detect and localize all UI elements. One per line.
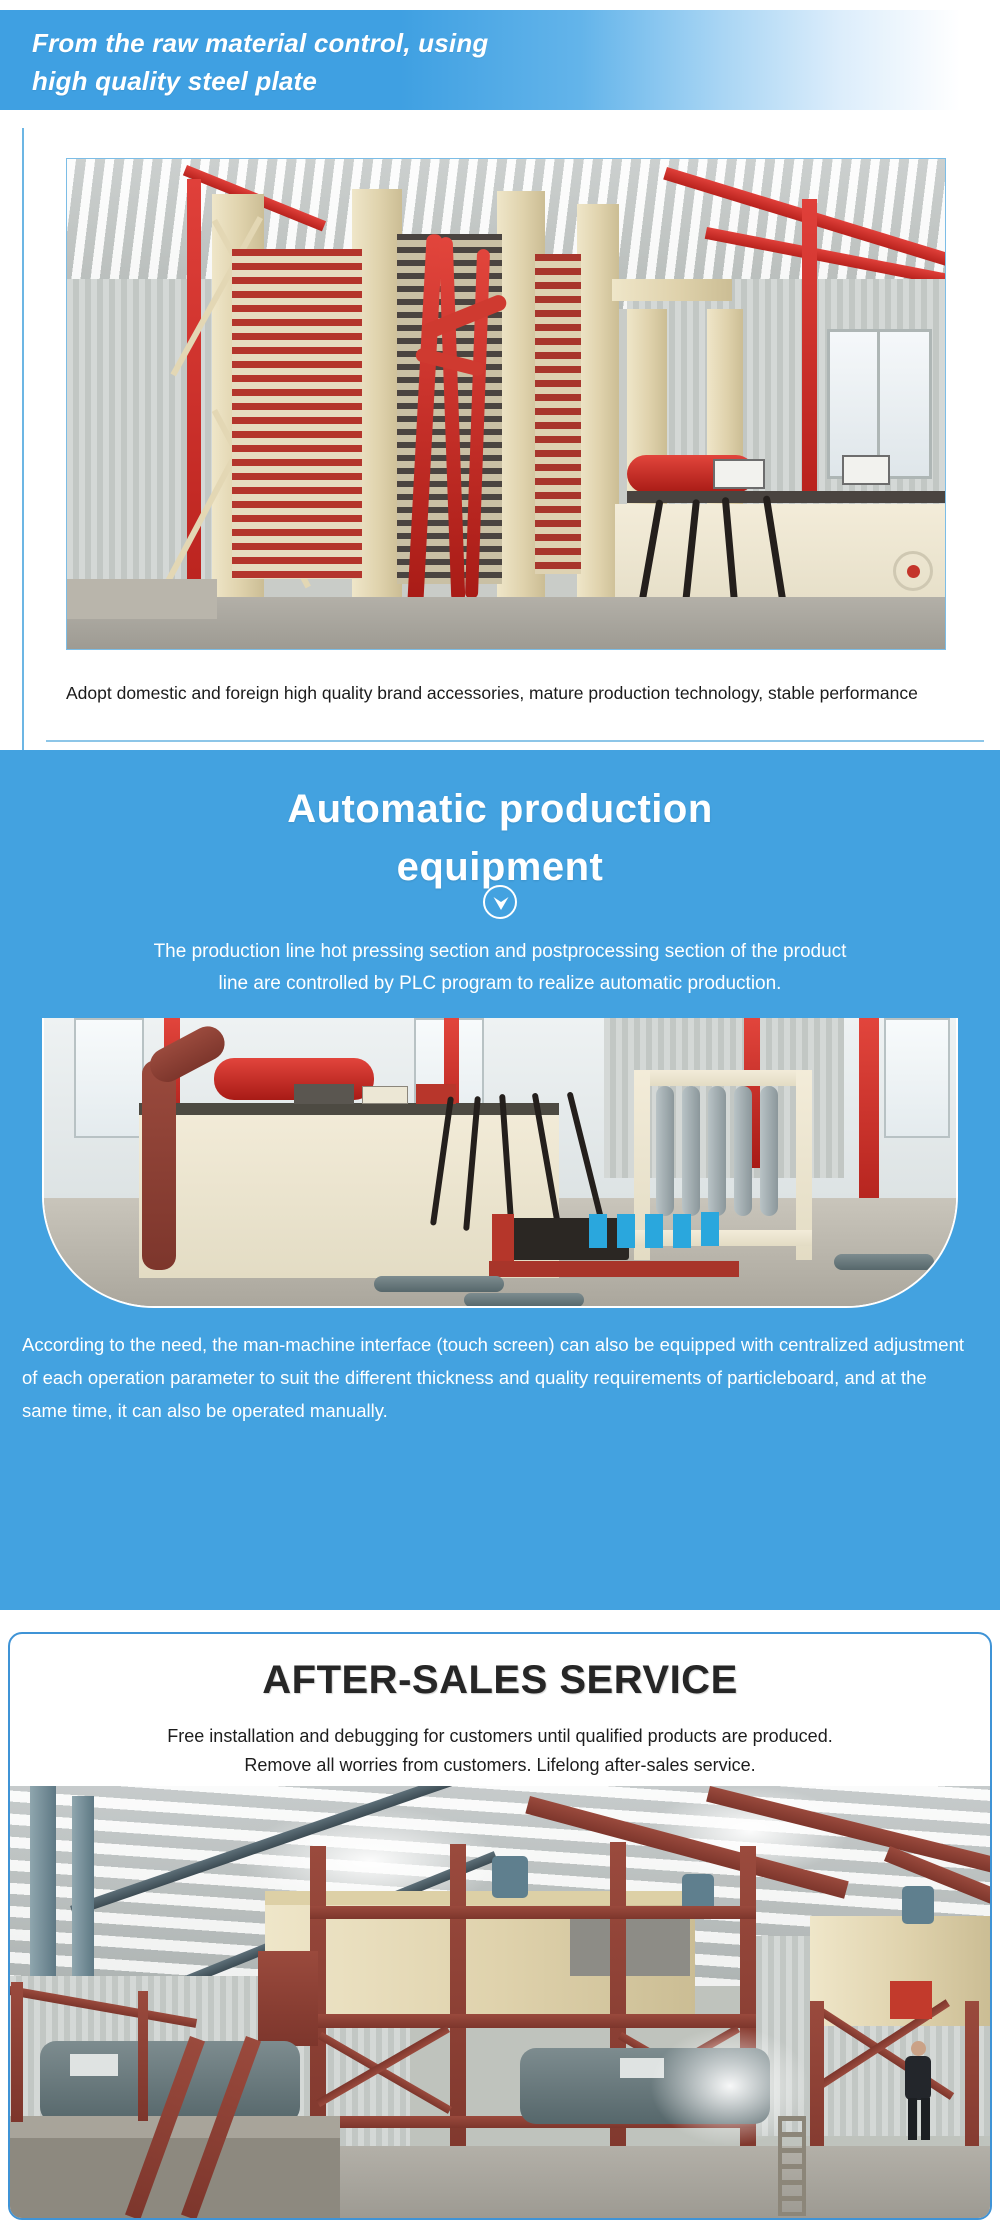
automatic-production-body: According to the need, the man-machine i… [22,1328,972,1427]
banner-heading-line1: From the raw material control, using [32,24,732,62]
raw-material-caption: Adopt domestic and foreign high quality … [66,678,946,708]
raw-material-banner: From the raw material control, using hig… [0,10,1000,110]
banner-heading-line2: high quality steel plate [32,62,732,100]
automatic-production-lead: The production line hot pressing section… [20,936,980,1000]
after-sales-subtitle-line1: Free installation and debugging for cust… [40,1722,960,1751]
chevron-down-circle-icon [483,885,517,919]
hot-press-machine-photo [66,158,946,650]
automatic-production-lead-line1: The production line hot pressing section… [20,936,980,968]
automatic-production-title: Automatic production equipment [0,780,1000,896]
automatic-production-section: Automatic production equipment The produ… [0,750,1000,1610]
product-detail-page: From the raw material control, using hig… [0,0,1000,2228]
after-sales-subtitle: Free installation and debugging for cust… [40,1722,960,1780]
after-sales-subtitle-line2: Remove all worries from customers. Lifel… [40,1751,960,1780]
factory-workshop-photo [10,1786,990,2218]
hydraulic-station-photo [42,1018,958,1308]
raw-material-card: Adopt domestic and foreign high quality … [22,128,982,750]
automatic-production-lead-line2: line are controlled by PLC program to re… [20,968,980,1000]
after-sales-title: AFTER-SALES SERVICE [10,1658,990,1703]
banner-heading: From the raw material control, using hig… [32,24,732,100]
after-sales-service-box: AFTER-SALES SERVICE Free installation an… [8,1632,992,2220]
automatic-production-title-line1: Automatic production [0,780,1000,838]
section-divider [46,740,984,742]
